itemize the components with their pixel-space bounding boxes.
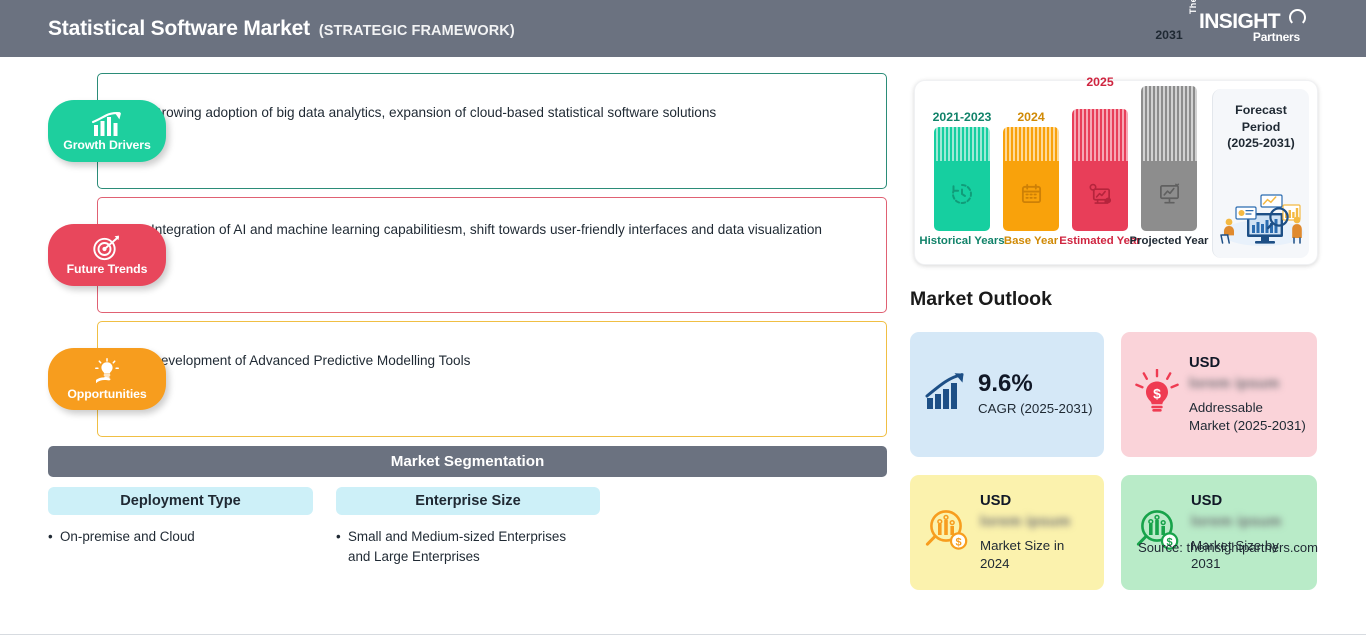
left-column: Growth Drivers • Growing adoption of big… <box>0 57 900 635</box>
factor-box-opportunities <box>97 321 887 437</box>
badge-label: Growth Drivers <box>63 138 150 152</box>
outlook-card-body: USD lorem ipsum Market Size by 2031 <box>1191 493 1303 572</box>
segmentation-pill-enterprise-size[interactable]: Enterprise Size <box>336 487 600 515</box>
clock-history-icon <box>950 182 974 211</box>
target-dart-icon <box>92 235 122 261</box>
outlook-kpi-label: CAGR (2025-2031) <box>978 400 1093 418</box>
timeline-bar <box>1141 86 1197 231</box>
timeline-bar <box>934 127 990 231</box>
segmentation-pill-label: Enterprise Size <box>415 493 520 509</box>
market-outlook-title: Market Outlook <box>910 288 1052 311</box>
factor-text-growth-drivers: • Growing adoption of big data analytics… <box>151 103 841 123</box>
timeline-bar-stripes <box>1072 109 1128 161</box>
badge-opportunities[interactable]: Opportunities <box>48 348 166 410</box>
outlook-value-redacted: lorem ipsum <box>980 514 1071 530</box>
timeline-year-label: 2021-2023 <box>933 110 992 124</box>
svg-text:$: $ <box>1153 386 1161 402</box>
bullet-icon: • <box>336 527 341 547</box>
timeline-bar-stripes <box>1003 127 1059 161</box>
forecast-period-box: Forecast Period (2025-2031) <box>1212 89 1309 258</box>
outlook-card-body: USD lorem ipsum Market Size in 2024 <box>980 493 1092 572</box>
outlook-currency-label: USD <box>1189 355 1307 371</box>
outlook-card-body: USD lorem ipsum Addressable Market (2025… <box>1189 355 1307 434</box>
forecast-line-1: Forecast <box>1213 102 1309 119</box>
timeline-bar-estimated: 2025 <box>1072 109 1128 231</box>
factor-text-value: Growing adoption of big data analytics, … <box>151 105 716 120</box>
timeline-year-label: 2031 <box>1155 28 1182 42</box>
timeline-bar <box>1003 127 1059 231</box>
factor-text-opportunities: • Development of Advanced Predictive Mod… <box>151 351 841 371</box>
segmentation-items-deployment-type: • On-premise and Cloud <box>48 527 313 547</box>
factor-box-growth-drivers <box>97 73 887 189</box>
outlook-card-body: 9.6% CAGR (2025-2031) <box>978 371 1093 418</box>
timeline-caption: Projected Year <box>1130 235 1209 249</box>
outlook-value-redacted: lorem ipsum <box>1191 514 1282 530</box>
factor-text-value: Development of Advanced Predictive Model… <box>151 353 470 368</box>
timeline-bar-solid <box>1072 161 1128 231</box>
market-segmentation-header: Market Segmentation <box>48 446 887 477</box>
outlook-kpi-value: 9.6% <box>978 370 1033 397</box>
logo-ring-icon <box>1289 9 1306 26</box>
outlook-value-redacted: lorem ipsum <box>1189 376 1280 392</box>
outlook-card-market-size-2031: $ USD lorem ipsum Market Size by 2031 <box>1121 475 1317 590</box>
outlook-currency-label: USD <box>980 493 1092 509</box>
segmentation-item: Small and Medium-sized Enterprises and L… <box>348 529 566 564</box>
factor-box-future-trends <box>97 197 887 313</box>
outlook-card-cagr: 9.6% CAGR (2025-2031) <box>910 332 1104 457</box>
presentation-chart-icon <box>1157 182 1182 210</box>
team-analytics-illustration <box>1217 189 1306 252</box>
badge-label: Future Trends <box>67 262 148 276</box>
segmentation-pill-deployment-type[interactable]: Deployment Type <box>48 487 313 515</box>
growth-bar-chart-icon <box>924 372 968 417</box>
bullet-icon: • <box>48 527 53 547</box>
timeline-year-label: 2024 <box>1017 110 1044 124</box>
timeline-caption: Estimated Year <box>1059 235 1140 249</box>
lightbulb-dollar-icon: $ <box>1135 369 1179 420</box>
segmentation-column-enterprise-size: Enterprise Size • Small and Medium-sized… <box>336 487 600 567</box>
outlook-card-addressable-market: $ USD lorem ipsum Addressable Market (20… <box>1121 332 1317 457</box>
forecast-line-3: (2025-2031) <box>1213 135 1309 152</box>
segmentation-column-deployment-type: Deployment Type • On-premise and Cloud <box>48 487 313 547</box>
timeline-caption: Base Year <box>1004 235 1058 249</box>
timeline-bar-historical: 2021-2023 Historical Years <box>934 127 990 231</box>
lightbulb-hand-icon <box>91 358 123 386</box>
timeline-year-label: 2025 <box>1086 75 1113 89</box>
source-attribution: Source: theinsightpartners.com <box>1138 540 1318 555</box>
outlook-currency-label: USD <box>1191 493 1303 509</box>
timeline-bar-solid <box>1003 161 1059 231</box>
timeline-bar-solid <box>934 161 990 231</box>
outlook-card-label: Addressable Market (2025-2031) <box>1189 399 1307 434</box>
factor-text-future-trends: • Integration of AI and machine learning… <box>151 220 841 240</box>
timeline-bar-stripes <box>1141 86 1197 161</box>
market-framework-page: Statistical Software Market (STRATEGIC F… <box>0 0 1366 635</box>
timeline-bar-base: 2024 Base Year <box>1003 127 1059 231</box>
study-period-timeline-chart: 2021-2023 Historical Years <box>914 80 1318 265</box>
calendar-icon <box>1020 182 1043 210</box>
segmentation-items-enterprise-size: • Small and Medium-sized Enterprises and… <box>336 527 582 567</box>
logo-partners-text: Partners <box>1253 30 1300 44</box>
insight-partners-logo[interactable]: The INSIGHT Partners <box>1188 9 1308 49</box>
market-segmentation-title: Market Segmentation <box>391 453 545 470</box>
forecast-line-2: Period <box>1213 119 1309 136</box>
outlook-card-market-size-2024: $ USD lorem ipsum Market Size in 2024 <box>910 475 1104 590</box>
timeline-bar <box>1072 109 1128 231</box>
header-title-wrap: Statistical Software Market (STRATEGIC F… <box>48 17 515 41</box>
svg-text:$: $ <box>956 537 962 549</box>
segmentation-item: On-premise and Cloud <box>60 529 195 544</box>
page-subtitle: (STRATEGIC FRAMEWORK) <box>319 23 515 39</box>
factor-text-value: Integration of AI and machine learning c… <box>151 222 822 237</box>
bar-chart-arrow-up-icon <box>90 111 124 137</box>
badge-future-trends[interactable]: Future Trends <box>48 224 166 286</box>
magnifier-chart-dollar-icon: $ <box>924 508 970 557</box>
timeline-bar-solid <box>1141 161 1197 231</box>
forecast-period-text: Forecast Period (2025-2031) <box>1213 102 1309 152</box>
analytics-gear-icon <box>1088 182 1113 211</box>
timeline-bar-projected: 2031 Projected Ye <box>1141 86 1197 231</box>
timeline-bar-stripes <box>934 127 990 161</box>
badge-label: Opportunities <box>67 387 146 401</box>
badge-growth-drivers[interactable]: Growth Drivers <box>48 100 166 162</box>
segmentation-pill-label: Deployment Type <box>120 493 241 509</box>
logo-the-text: The <box>1188 0 1198 14</box>
timeline-caption: Historical Years <box>919 235 1004 249</box>
page-title: Statistical Software Market <box>48 17 310 41</box>
outlook-card-label: Market Size in 2024 <box>980 537 1092 572</box>
